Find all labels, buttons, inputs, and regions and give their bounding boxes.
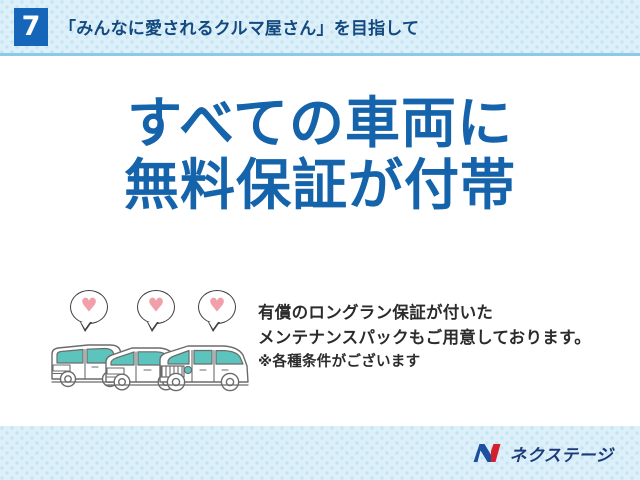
speech-bubble: ♥ <box>198 290 236 324</box>
hero-headline: すべての車両に 無料保証が付帯 <box>0 92 640 216</box>
description-line-2: メンテナンスパックもご用意しております。 <box>258 325 638 350</box>
brand-logo-text: ネクステージ <box>509 441 613 466</box>
hero-line-1: すべての車両に <box>0 92 640 154</box>
bubble-tail-inner <box>81 322 90 329</box>
nextage-n-logo-icon <box>473 443 504 463</box>
section-number-badge: 7 <box>14 8 48 46</box>
bubble-tail-inner <box>209 322 218 329</box>
header-bar: 7 「みんなに愛されるクルマ屋さん」を目指して <box>0 0 640 56</box>
heart-icon: ♥ <box>80 297 97 316</box>
cars-illustration <box>48 332 253 392</box>
speech-bubble: ♥ <box>70 290 108 324</box>
car-suv <box>160 346 248 391</box>
speech-bubble: ♥ <box>137 290 175 324</box>
content-section: ♥ ♥ ♥ <box>0 288 640 408</box>
heart-icon: ♥ <box>147 297 164 316</box>
header-title: 「みんなに愛されるクルマ屋さん」を目指して <box>59 14 419 39</box>
brand-logo: ネクステージ <box>473 441 613 466</box>
description-line-1: 有償のロングラン保証が付いた <box>258 300 638 325</box>
promo-banner: 7 「みんなに愛されるクルマ屋さん」を目指して すべての車両に 無料保証が付帯 … <box>0 0 640 480</box>
hero-line-2: 無料保証が付帯 <box>0 154 640 216</box>
car-illustration-group: ♥ ♥ ♥ <box>48 288 253 392</box>
heart-icon: ♥ <box>208 297 225 316</box>
description-note: ※各種条件がございます <box>258 350 638 374</box>
footer-bar: ネクステージ <box>0 426 640 480</box>
bubble-tail-inner <box>148 322 157 329</box>
description-block: 有償のロングラン保証が付いた メンテナンスパックもご用意しております。 ※各種条… <box>258 300 638 374</box>
